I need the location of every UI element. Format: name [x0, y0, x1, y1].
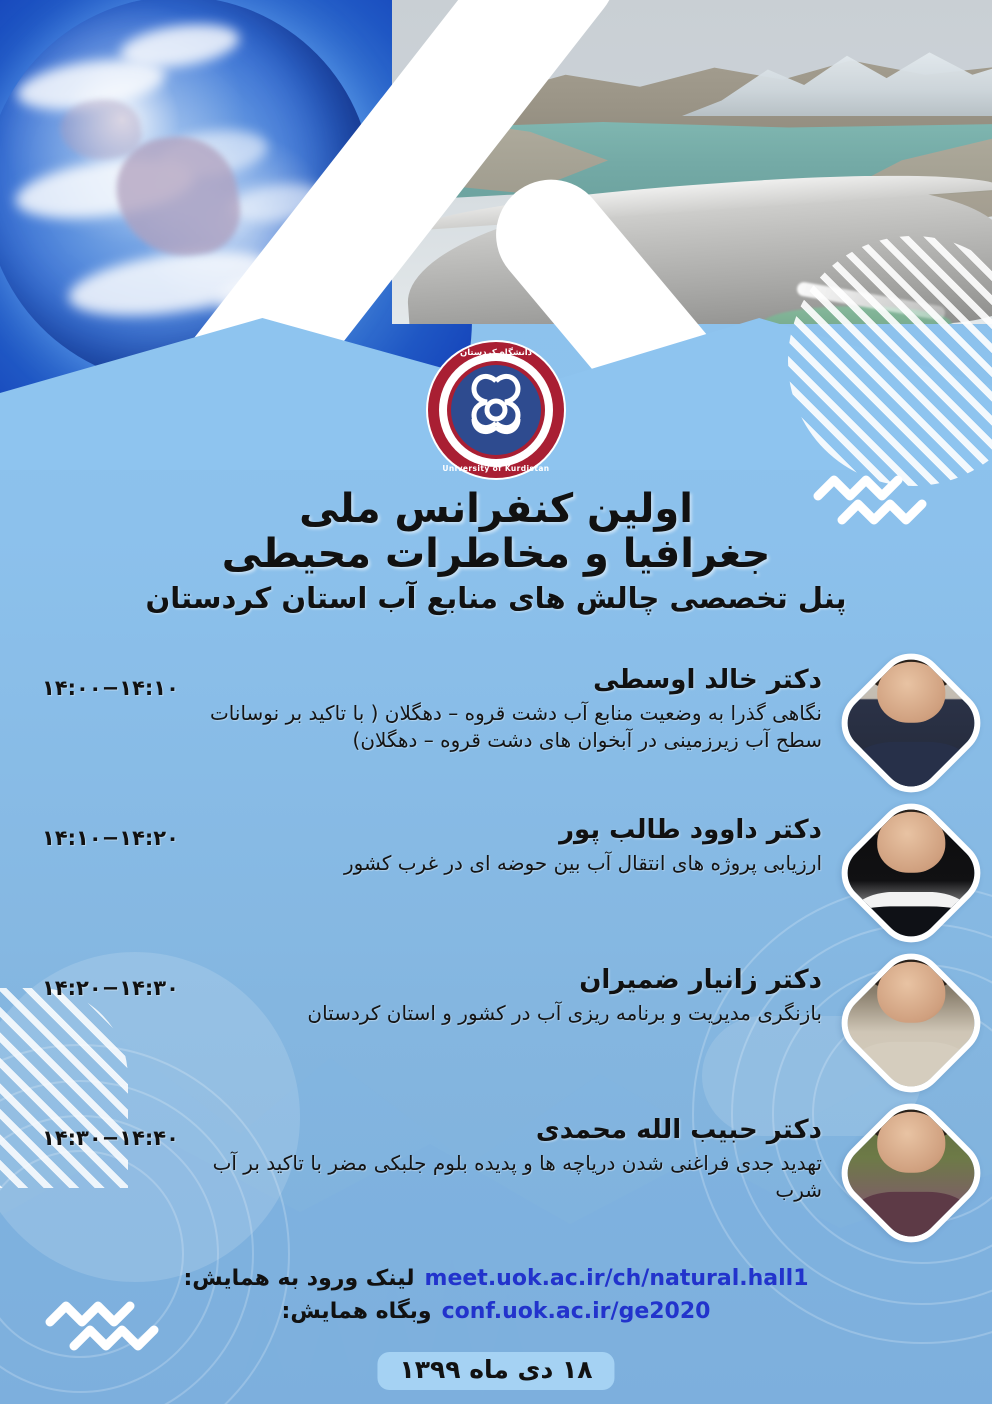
- schedule-list: ۱۴:۰۰−۱۴:۱۰ دکتر خالد اوسطی نگاهی گذرا ب…: [0, 658, 992, 1258]
- poster-title-block: اولین کنفرانس ملی جغرافیا و مخاطرات محیط…: [0, 486, 992, 617]
- speaker-name: دکتر حبیب الله محمدی: [200, 1114, 822, 1147]
- schedule-row: ۱۴:۰۰−۱۴:۱۰ دکتر خالد اوسطی نگاهی گذرا ب…: [0, 658, 992, 808]
- session-time: ۱۴:۲۰−۱۴:۳۰: [42, 976, 179, 1000]
- session-topic: بازنگری مدیریت و برنامه ریزی آب در کشور …: [200, 1000, 822, 1028]
- session-time: ۱۴:۰۰−۱۴:۱۰: [42, 676, 179, 700]
- poster-subtitle: پنل تخصصی چالش های منابع آب استان کردستا…: [0, 580, 992, 616]
- logo-knot-motif-icon: [451, 365, 541, 455]
- university-logo: دانشگاه کردستان University of Kurdistan: [426, 340, 566, 480]
- speaker-avatar: [852, 964, 970, 1082]
- session-time: ۱۴:۳۰−۱۴:۴۰: [42, 1126, 179, 1150]
- conference-poster: دانشگاه کردستان University of Kurdistan: [0, 0, 992, 1404]
- speaker-avatar: [852, 1114, 970, 1232]
- schedule-row: ۱۴:۲۰−۱۴:۳۰ دکتر زانیار ضمیران بازنگری م…: [0, 958, 992, 1108]
- session-time: ۱۴:۱۰−۱۴:۲۰: [42, 826, 179, 850]
- speaker-name: دکتر داوود طالب پور: [200, 814, 822, 847]
- session-topic: نگاهی گذرا به وضعیت منابع آب دشت قروه – …: [200, 700, 822, 755]
- links-block: meet.uok.ac.ir/ch/natural.hall1 لینک ورو…: [0, 1262, 992, 1328]
- speaker-avatar: [852, 664, 970, 782]
- schedule-row: ۱۴:۱۰−۱۴:۲۰ دکتر داوود طالب پور ارزیابی …: [0, 808, 992, 958]
- title-line-1: اولین کنفرانس ملی: [0, 486, 992, 533]
- title-line-2: جغرافیا و مخاطرات محیطی: [0, 531, 992, 578]
- link-row: meet.uok.ac.ir/ch/natural.hall1 لینک ورو…: [0, 1262, 992, 1295]
- meeting-link-label: لینک ورود به همایش:: [183, 1262, 414, 1295]
- event-date-badge: ۱۸ دی ماه ۱۳۹۹: [377, 1352, 614, 1390]
- meeting-link[interactable]: meet.uok.ac.ir/ch/natural.hall1: [425, 1262, 809, 1295]
- link-row: conf.uok.ac.ir/ge2020 وبگاه همایش:: [0, 1295, 992, 1328]
- speaker-name: دکتر خالد اوسطی: [200, 664, 822, 697]
- website-link[interactable]: conf.uok.ac.ir/ge2020: [442, 1295, 711, 1328]
- website-link-label: وبگاه همایش:: [282, 1295, 432, 1328]
- schedule-row: ۱۴:۳۰−۱۴:۴۰ دکتر حبیب الله محمدی تهدید ج…: [0, 1108, 992, 1258]
- speaker-avatar: [852, 814, 970, 932]
- session-topic: ارزیابی پروژه های انتقال آب بین حوضه ای …: [200, 850, 822, 878]
- speaker-name: دکتر زانیار ضمیران: [200, 964, 822, 997]
- session-topic: تهدید جدی فراغنی شدن دریاچه ها و پدیده ب…: [200, 1150, 822, 1205]
